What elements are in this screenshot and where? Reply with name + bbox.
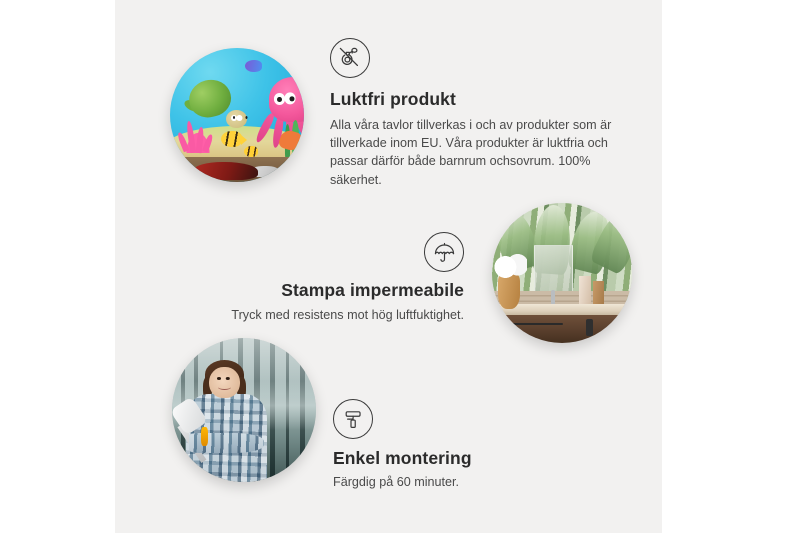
blue-fish: [245, 60, 262, 72]
feature-block-waterproof: Stampa impermeabile Tryck med resistens …: [218, 232, 464, 324]
feature-title: Enkel montering: [333, 448, 583, 470]
paint-roller-icon: [333, 399, 373, 439]
coral-branch: [202, 134, 213, 153]
woman-smile: [218, 384, 231, 390]
turtle-head: [226, 110, 247, 128]
white-flowers: [492, 253, 527, 281]
octopus-head: [269, 77, 304, 121]
feature-block-assembly: Enkel montering Färgdig på 60 minuter.: [333, 399, 583, 491]
woman-with-paint-roller-photo: [172, 338, 316, 482]
sea-scene: [170, 48, 304, 182]
umbrella-icon: [424, 232, 464, 272]
feature-block-odorless: Luktfri produkt Alla våra tavlor tillver…: [330, 38, 630, 189]
woman-face: [209, 367, 239, 399]
feature-title: Luktfri produkt: [330, 89, 630, 111]
no-odor-perfume-bottle-icon: [330, 38, 370, 78]
roller-grip: [201, 427, 208, 446]
bathroom-tropical-wallpaper-photo: [492, 203, 632, 343]
sea-floor: [170, 157, 304, 182]
product-feature-graphic: Luktfri produkt Alla våra tavlor tillver…: [0, 0, 800, 533]
bathroom-scene: [492, 203, 632, 343]
soap-bottle: [579, 276, 592, 307]
small-yellow-fish: [244, 146, 259, 157]
woman-eyes: [217, 377, 221, 380]
feature-body-text: Alla våra tavlor tillverkas i och av pro…: [330, 116, 630, 189]
underwater-kids-scene-photo: [170, 48, 304, 182]
wooden-vanity-cabinet: [498, 315, 632, 343]
yellow-striped-fish: [221, 131, 242, 147]
pink-coral: [178, 118, 218, 153]
feature-body-text: Tryck med resistens mot hög luftfuktighe…: [218, 306, 464, 324]
forest-painter-scene: [172, 338, 316, 482]
feature-body-text: Färgdig på 60 minuter.: [333, 473, 583, 491]
feature-title: Stampa impermeabile: [218, 280, 464, 302]
